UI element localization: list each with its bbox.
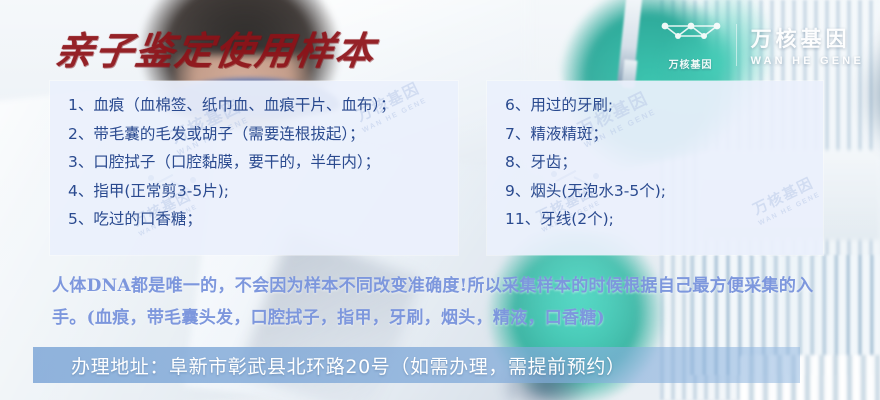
- page-title: 亲子鉴定使用样本: [52, 20, 380, 75]
- list-item: 7、精液精斑；: [505, 120, 823, 149]
- dna-molecule-icon: [660, 18, 722, 53]
- brand-mark: 万核基因: [660, 18, 722, 71]
- list-item: 5、吃过的口香糖；: [68, 205, 458, 234]
- sample-list-panel-right: 万核基因 WAN HE GENE 万核基因 WAN HE GENE 万核基因 W…: [487, 81, 823, 255]
- list-item: 11、牙线(2个);: [505, 205, 823, 234]
- brand-text: 万核基因 WAN HE GENE: [751, 23, 864, 67]
- address-bar: 办理地址：阜新市彰武县北环路20号（如需办理，需提前预约）: [33, 347, 800, 383]
- list-item: 4、指甲(正常剪3-5片);: [68, 177, 458, 206]
- sample-list-panel-left: 万核基因 WAN HE GENE 万核基因 WAN HE GENE 万核基因 W…: [50, 81, 458, 255]
- brand-divider: [736, 24, 737, 66]
- poster-root: 亲子鉴定使用样本: [0, 0, 880, 400]
- list-item: 1、血痕（血棉签、纸巾血、血痕干片、血布）；: [68, 91, 458, 120]
- list-item: 2、带毛囊的毛发或胡子（需要连根拔起）；: [68, 120, 458, 149]
- brand-name-en: WAN HE GENE: [751, 55, 864, 67]
- explanation-paragraph: 人体DNA都是唯一的，不会因为样本不同改变准确度!所以采集样本的时候根据自己最方…: [52, 270, 842, 334]
- sample-list-right: 6、用过的牙刷; 7、精液精斑； 8、牙齿； 9、烟头(无泡水3-5个); 11…: [487, 81, 823, 234]
- list-item: 8、牙齿；: [505, 148, 823, 177]
- sample-list-left: 1、血痕（血棉签、纸巾血、血痕干片、血布）； 2、带毛囊的毛发或胡子（需要连根拔…: [50, 81, 458, 234]
- brand-name-cn: 万核基因: [751, 23, 851, 53]
- brand-logo: 万核基因 万核基因 WAN HE GENE: [660, 18, 864, 71]
- list-item: 6、用过的牙刷;: [505, 91, 823, 120]
- address-text: 办理地址：阜新市彰武县北环路20号（如需办理，需提前预约）: [33, 352, 626, 379]
- brand-mark-label: 万核基因: [669, 56, 713, 71]
- list-item: 3、口腔拭子（口腔黏膜，要干的，半年内）；: [68, 148, 458, 177]
- list-item: 9、烟头(无泡水3-5个);: [505, 177, 823, 206]
